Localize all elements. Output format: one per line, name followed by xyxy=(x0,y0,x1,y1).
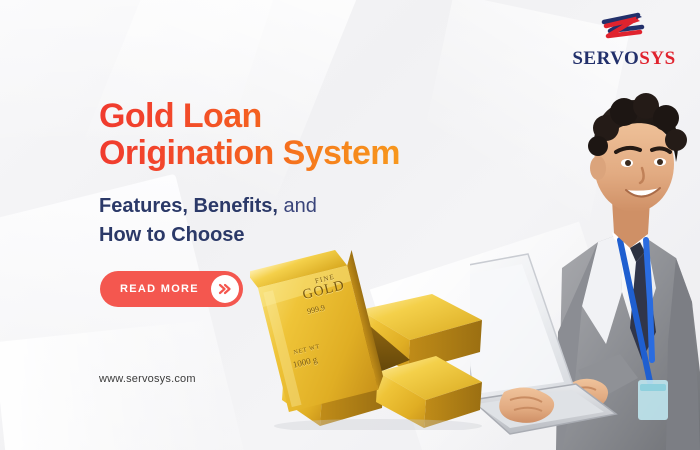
servosys-logo[interactable]: SERVOSYS xyxy=(564,10,684,68)
page-subtitle: Features, Benefits, and How to Choose xyxy=(99,192,317,250)
wordmark-servo: SERVO xyxy=(572,48,639,69)
headline-line-2: Origination System xyxy=(99,135,400,172)
subtitle-light-part: and xyxy=(278,195,317,217)
businessman-with-laptop-photo xyxy=(470,92,700,450)
subtitle-line-2: How to Choose xyxy=(99,221,317,250)
servosys-zigzag-mark xyxy=(590,10,658,48)
double-chevron-right-icon xyxy=(211,275,239,303)
wordmark-sys: SYS xyxy=(639,48,675,69)
website-url[interactable]: www.servosys.com xyxy=(99,373,196,385)
page-title: Gold Loan Origination System xyxy=(99,98,400,173)
subtitle-bold-part: Features, Benefits, xyxy=(99,195,278,217)
read-more-label: READ MORE xyxy=(120,283,199,295)
subtitle-line-1: Features, Benefits, and xyxy=(99,192,317,221)
headline-line-1: Gold Loan xyxy=(99,98,400,135)
read-more-button[interactable]: READ MORE xyxy=(100,271,243,307)
gold-bars-illustration: FINE GOLD 999.9 NET WT 1000 g xyxy=(250,250,500,430)
servosys-wordmark: SERVOSYS xyxy=(564,49,684,68)
gold-loan-banner: FINE GOLD 999.9 NET WT 1000 g SERVOSYS G… xyxy=(0,0,700,450)
